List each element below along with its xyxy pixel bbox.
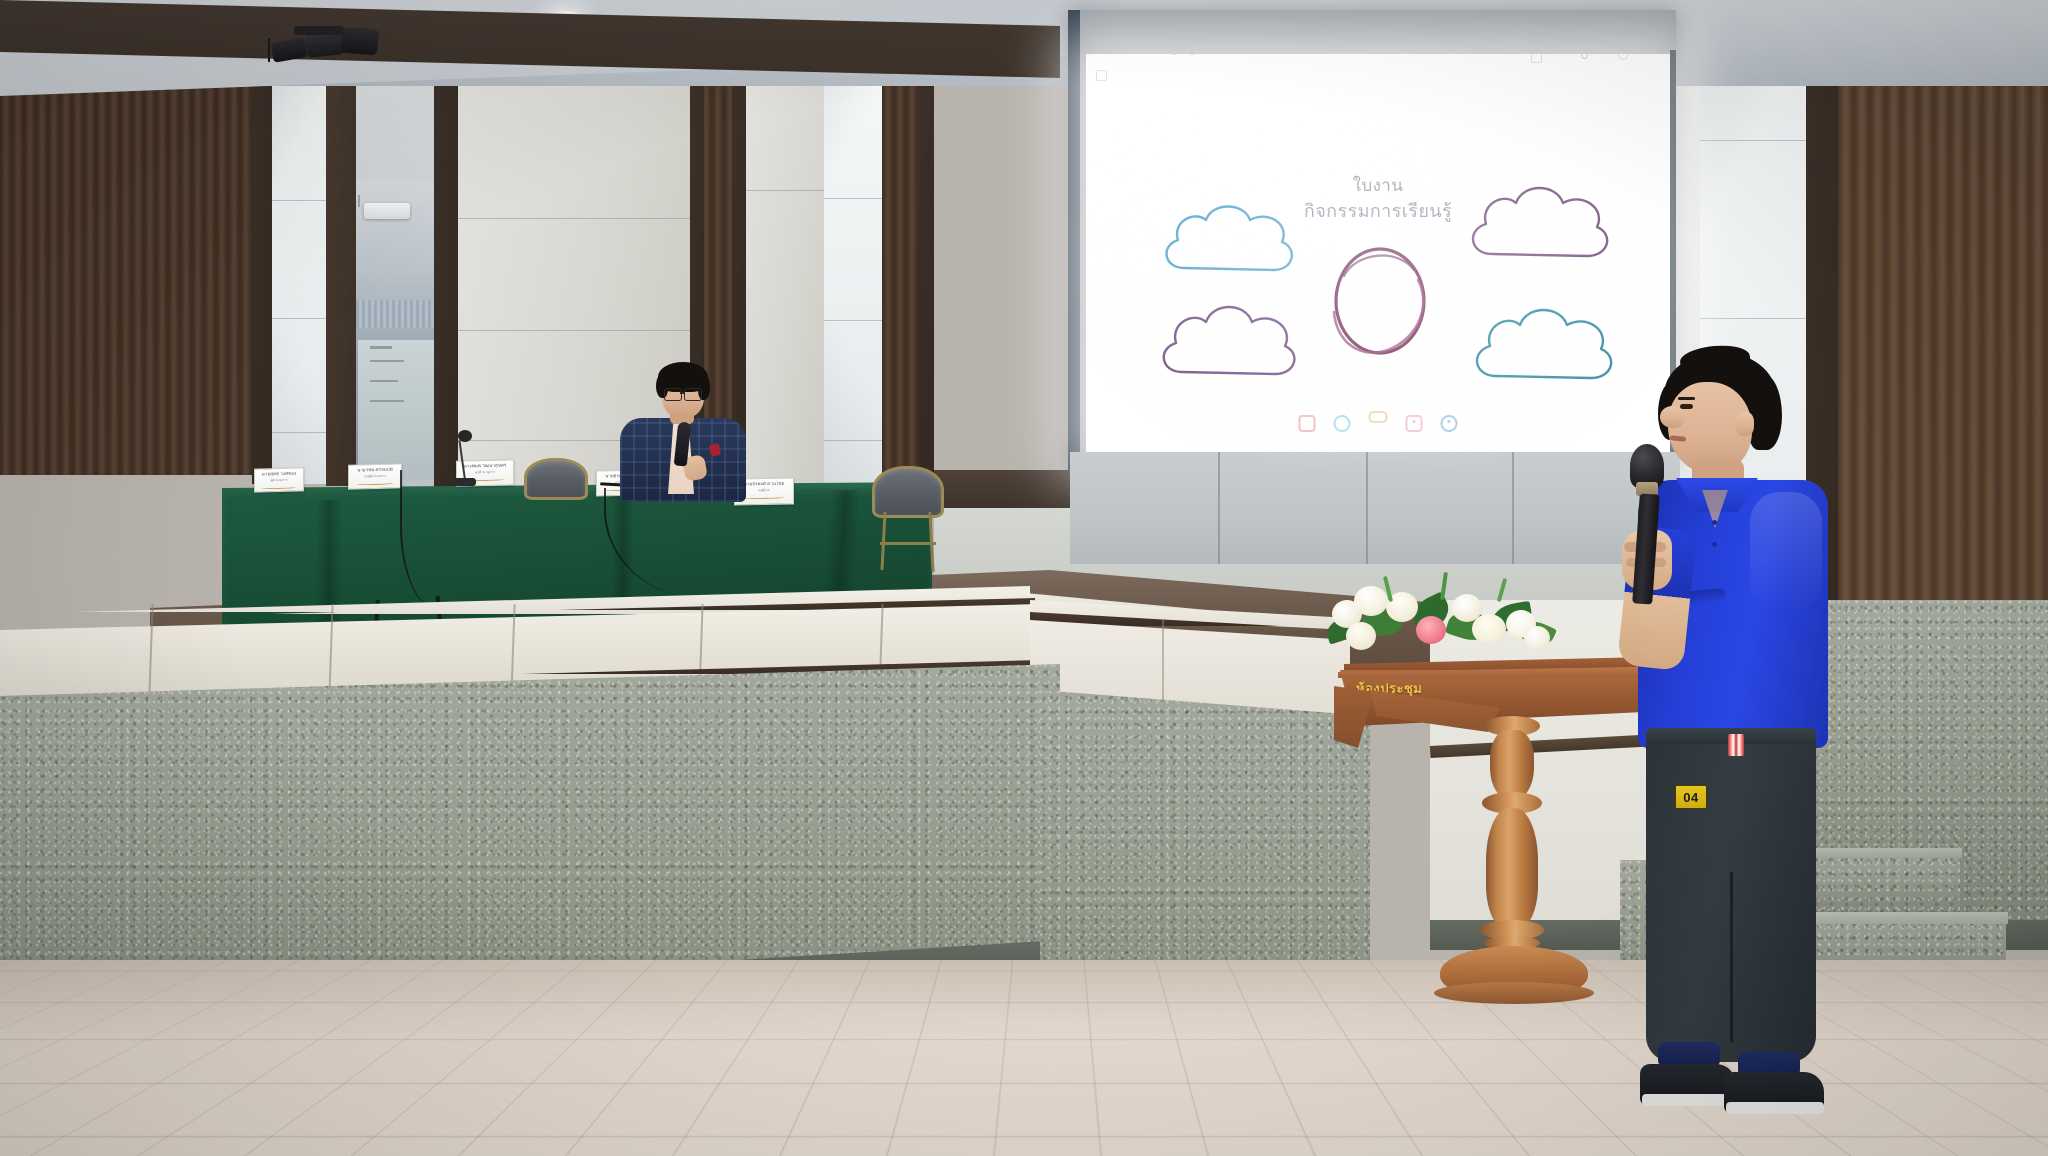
podium-column-lower — [1486, 808, 1538, 928]
slide-decor-dot — [1188, 54, 1197, 55]
chair-frame — [880, 512, 936, 572]
cloud-bottom-left — [1148, 296, 1300, 398]
cabinet-divider — [1512, 452, 1514, 564]
wall-marble-2 — [824, 38, 884, 502]
chair-back — [524, 458, 588, 500]
wall-frame-6 — [918, 28, 934, 504]
wall-marble-1 — [272, 52, 328, 484]
marble-seam — [272, 432, 328, 433]
cream-rose — [1472, 614, 1506, 644]
slide-decor-dot — [1581, 54, 1588, 59]
conference-hall-photo: ใบงาน กิจกรรมการเรียนรู้ — [0, 0, 2048, 1156]
polo-button — [1712, 520, 1717, 525]
screen-surface: ใบงาน กิจกรรมการเรียนรู้ — [1086, 54, 1670, 458]
name-placard: นายสุทธิ์ วงศ์ทอง ผู้อำนวยการ — [254, 467, 304, 492]
marble-seam — [272, 200, 328, 201]
white-rose — [1346, 622, 1376, 650]
glasses-lens-right — [684, 388, 702, 401]
placard-flourish — [262, 485, 296, 490]
marble-seam — [272, 318, 328, 319]
projection-screen: ใบงาน กิจกรรมการเรียนรู้ — [1068, 10, 1676, 470]
interior-detail — [370, 346, 392, 349]
light-rail — [294, 26, 344, 35]
interior-detail — [370, 360, 404, 362]
seated-panel-member — [618, 360, 748, 500]
cloud-top-left — [1150, 194, 1300, 294]
glasses-bridge — [680, 392, 684, 394]
name-placard: นายวิชัย ศรีสมบัติ รองผู้อำนวยการ — [348, 463, 402, 489]
wall-frame-2 — [326, 50, 358, 486]
banquet-chair — [524, 458, 588, 500]
placard-name: นายวิชัย ศรีสมบัติ — [349, 467, 401, 473]
podium-foot — [1434, 982, 1594, 1004]
glasses-lens-left — [664, 388, 682, 401]
presenter: 04 — [1600, 352, 1820, 1156]
panel-seam — [458, 218, 702, 219]
interior-light-fixture — [364, 203, 410, 219]
presenter-eyebrow — [1678, 397, 1695, 400]
slide-canvas: ใบงาน กิจกรรมการเรียนรู้ — [1086, 54, 1670, 458]
cabinet-divider — [1366, 452, 1368, 564]
interior-railing — [356, 300, 436, 328]
screen-under-cabinet — [1070, 452, 1680, 564]
marble-seam — [1700, 140, 1810, 141]
chair-leg — [880, 512, 886, 570]
slide-corner-mark — [1531, 54, 1542, 63]
lapel-ribbon — [709, 443, 721, 457]
trouser-seam — [1730, 872, 1733, 1042]
trouser-number-patch: 04 — [1674, 784, 1708, 810]
white-rose — [1524, 626, 1550, 650]
chair-rail — [880, 542, 936, 545]
podium-column-upper — [1490, 730, 1534, 800]
chair-back — [872, 466, 944, 518]
panel-seam — [746, 190, 826, 191]
pink-rose — [1416, 616, 1446, 644]
note-icon — [1299, 415, 1316, 432]
flower-arrangement — [1324, 582, 1554, 660]
presenter-ear — [1736, 412, 1754, 436]
shoe-sole — [1642, 1094, 1736, 1106]
marble-seam — [824, 320, 884, 321]
marble-seam — [824, 198, 884, 199]
stage-lights-cluster — [268, 26, 398, 70]
placard-subtitle: ผู้อำนวยการ — [255, 477, 303, 483]
wall-slat-panel-far-right — [1838, 0, 2048, 700]
interior-detail — [370, 380, 398, 382]
placard-subtitle: รองผู้อำนวยการ — [349, 473, 401, 479]
presenter-hair-back — [1748, 374, 1782, 450]
banquet-chair — [872, 466, 944, 518]
presenter-eye — [1680, 404, 1693, 409]
stage-light — [341, 27, 379, 55]
stage-light — [271, 37, 308, 63]
shoe-sole — [1726, 1102, 1824, 1114]
wall-panel-6 — [746, 40, 826, 500]
cloud-top-right — [1456, 176, 1614, 280]
center-circle — [1326, 240, 1434, 362]
slide-footer-icons — [1299, 415, 1458, 432]
placard-flourish — [357, 481, 393, 486]
panel-seam — [458, 330, 702, 331]
slide-decor-dot — [1618, 54, 1628, 60]
placard-flourish — [744, 495, 785, 500]
screen-left-edge — [1068, 10, 1080, 470]
presenter-nose — [1660, 406, 1684, 428]
cabinet-divider — [1218, 452, 1220, 564]
light-bracket — [358, 195, 360, 207]
target-icon — [1441, 415, 1458, 432]
shirt-highlight — [1750, 492, 1822, 612]
light-pole — [268, 38, 270, 62]
slide-decor-dot — [1170, 54, 1179, 55]
globe-icon — [1334, 415, 1351, 432]
flower-spray — [1497, 578, 1507, 602]
cloud-bottom-right — [1460, 298, 1618, 402]
photo-icon — [1406, 415, 1423, 432]
interior-detail — [370, 400, 404, 402]
marble-seam — [824, 440, 884, 441]
slide-corner-mark — [1096, 70, 1107, 81]
placard-name: นายสุทธิ์ วงศ์ทอง — [255, 471, 303, 477]
wall-frame-1 — [252, 44, 274, 484]
tag-icon — [1369, 411, 1388, 423]
polo-button — [1712, 542, 1717, 547]
trouser-flag-label — [1728, 734, 1744, 756]
white-rose — [1354, 586, 1388, 616]
wall-slat-panel-far-left — [0, 60, 258, 475]
marble-seam — [1700, 318, 1810, 319]
wall-slat-panel-right — [882, 30, 922, 504]
